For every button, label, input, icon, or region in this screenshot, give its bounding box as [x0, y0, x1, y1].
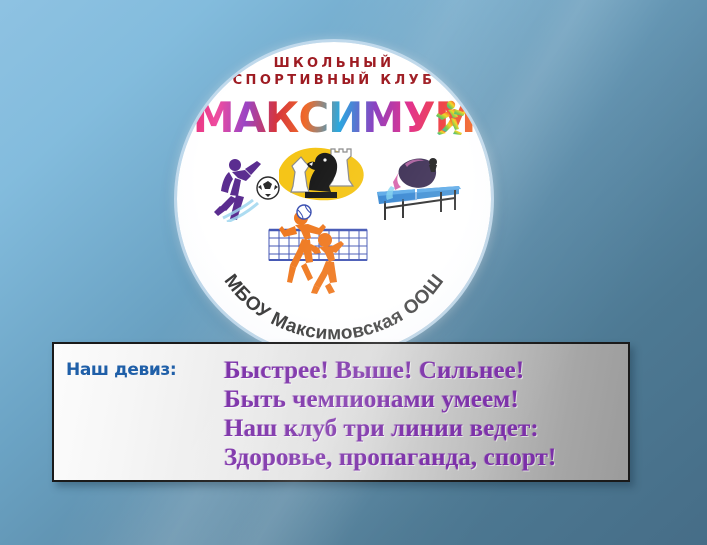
table-tennis-icon	[363, 156, 465, 224]
motto-box: Наш девиз: Быстрее! Выше! Сильнее! Быть …	[52, 342, 630, 482]
motto-label: Наш девиз:	[54, 356, 212, 380]
motto-line: Здоровье, пропаганда, спорт!	[224, 443, 628, 472]
club-line-1: ШКОЛЬНЫЙ	[177, 56, 491, 71]
chess-icon	[275, 136, 367, 208]
motto-line: Наш клуб три линии ведет:	[224, 414, 628, 443]
volleyball-icon	[265, 204, 375, 294]
club-line-2: СПОРТИВНЫЙ КЛУБ	[177, 73, 491, 88]
slide-canvas: ШКОЛЬНЫЙ СПОРТИВНЫЙ КЛУБ МАКСИМУМ	[0, 0, 707, 545]
sport-icons-group	[177, 134, 491, 314]
motto-lines: Быстрее! Выше! Сильнее! Быть чемпионами …	[212, 356, 628, 472]
club-emblem: ШКОЛЬНЫЙ СПОРТИВНЫЙ КЛУБ МАКСИМУМ	[177, 42, 491, 356]
club-name-text: МАКСИМУМ	[193, 97, 476, 139]
motto-line: Быстрее! Выше! Сильнее!	[224, 356, 628, 385]
motto-line: Быть чемпионами умеем!	[224, 385, 628, 414]
